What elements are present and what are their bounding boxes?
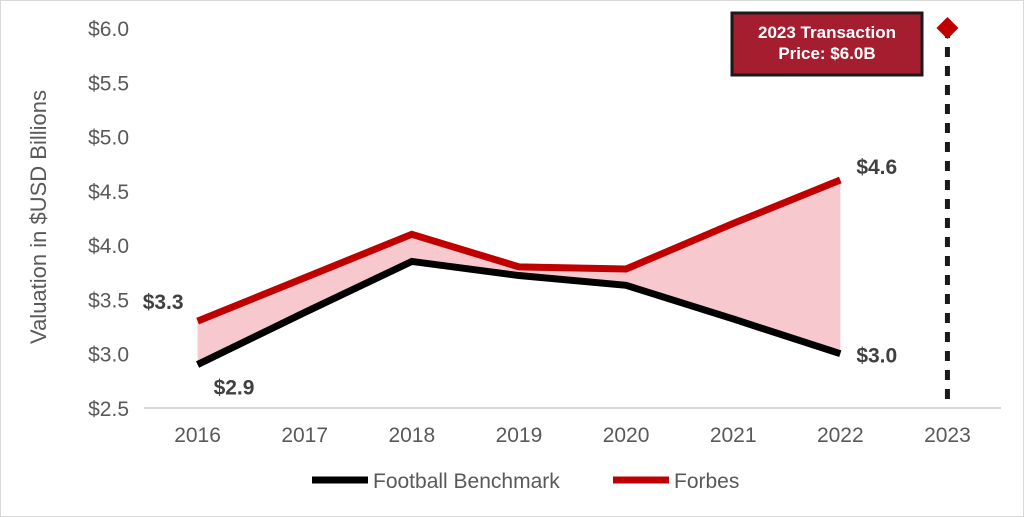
callout-line-2: Price: $6.0B [778,44,875,63]
data-label-2022-forbes: $4.6 [856,156,897,179]
transaction-callout: 2023 Transaction Price: $6.0B [732,13,922,75]
y-axis-tick-labels: $6.0$5.5$5.0$4.5$4.0$3.5$3.0$2.5 [88,18,129,421]
chart-legend: Football Benchmark Forbes [312,470,739,493]
y-tick-label: $4.0 [88,235,129,258]
y-tick-label: $5.0 [88,127,129,150]
valuation-line-chart: Valuation in $USD Billions $6.0$5.5$5.0$… [1,1,1024,517]
x-tick-label-2022: 2022 [817,424,864,447]
data-label-2016-forbes: $3.3 [143,291,184,314]
data-label-2016-football-benchmark: $2.9 [214,377,255,400]
x-tick-label-2021: 2021 [710,424,757,447]
y-axis-title-text: Valuation in $USD Billions [26,90,51,344]
x-tick-label-2019: 2019 [496,424,543,447]
x-axis-tick-labels: 20162017201820192020202120222023 [174,424,971,447]
y-tick-label: $2.5 [88,398,129,421]
chart-container: Valuation in $USD Billions $6.0$5.5$5.0$… [0,0,1024,517]
y-tick-label: $3.5 [88,289,129,312]
x-tick-label-2016: 2016 [174,424,221,447]
y-tick-label: $5.5 [88,72,129,95]
data-label-2022-football-benchmark: $3.0 [856,345,897,368]
legend-label-forbes: Forbes [674,470,739,493]
x-tick-label-2018: 2018 [388,424,435,447]
transaction-diamond-icon [936,17,958,39]
y-tick-label: $6.0 [88,18,129,41]
callout-line-1: 2023 Transaction [758,23,896,42]
y-axis-title: Valuation in $USD Billions [26,90,51,344]
y-tick-label: $4.5 [88,181,129,204]
y-tick-label: $3.0 [88,344,129,367]
x-tick-label-2017: 2017 [281,424,328,447]
x-tick-label-2020: 2020 [603,424,650,447]
legend-label-football-benchmark: Football Benchmark [373,470,560,493]
x-tick-label-2023: 2023 [924,424,971,447]
